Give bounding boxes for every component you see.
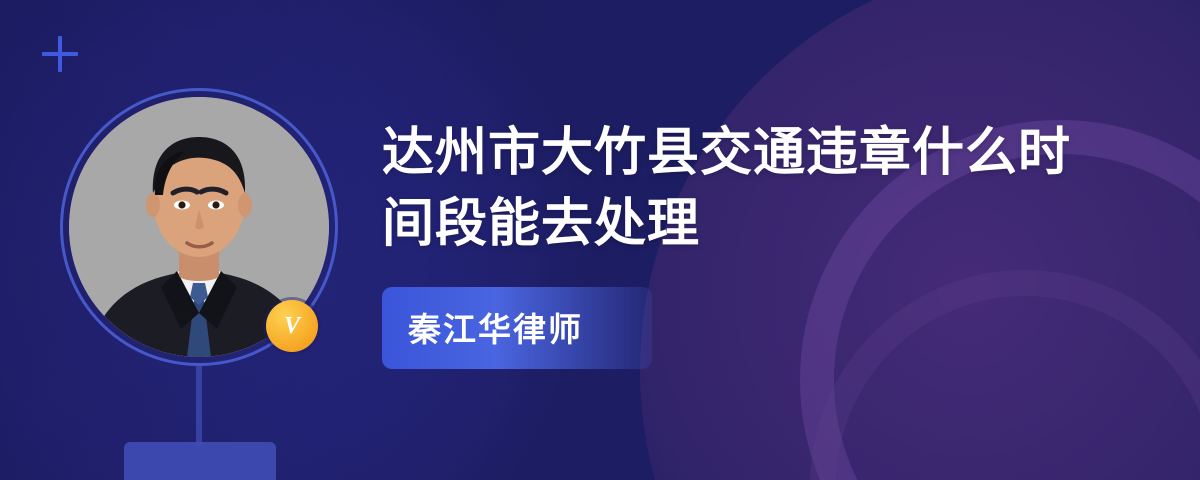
verified-badge-letter: V [284,314,300,338]
lawyer-profile-banner: V 达州市大竹县交通违章什么时间段能去处理 秦江华律师 [0,0,1200,480]
verified-badge-icon: V [266,300,318,352]
avatar: V [60,88,338,366]
pedestal-base [124,442,276,480]
banner-content: 达州市大竹县交通违章什么时间段能去处理 秦江华律师 [382,118,1112,369]
avatar-pedestal [150,366,250,480]
pedestal-stem [196,366,202,446]
plus-icon [42,36,78,72]
page-title: 达州市大竹县交通违章什么时间段能去处理 [382,118,1112,259]
lawyer-name-chip: 秦江华律师 [382,287,652,369]
